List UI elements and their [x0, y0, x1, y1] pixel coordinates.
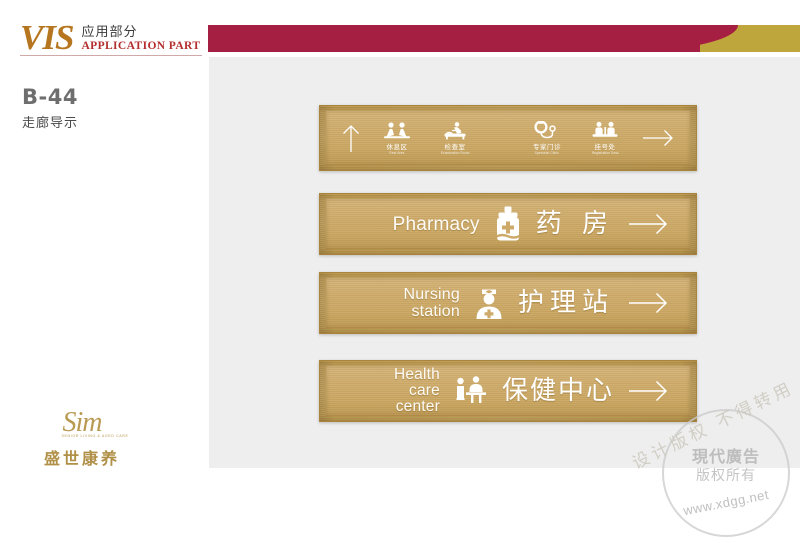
arrow-right-icon	[628, 380, 668, 402]
sign-board-nursing-station: Nursing station 护理站	[319, 272, 697, 334]
directory-label-en: Specialist Clinic	[535, 151, 559, 156]
sign-board-face: Pharmacy 药 房	[326, 199, 690, 249]
directory-label-cn: 休息区	[387, 143, 408, 151]
consultation-desk-icon	[454, 374, 488, 408]
sign-board-pharmacy: Pharmacy 药 房	[319, 193, 697, 255]
health-center-label-en-line1: Health	[362, 367, 440, 383]
directory-label-cn: 检查室	[445, 143, 466, 151]
sign-board-face: 休息区 Rest Area 检查室	[326, 111, 690, 165]
header-color-bar	[208, 25, 800, 52]
directory-item-rest-area: 休息区 Rest Area	[376, 121, 418, 156]
nursing-label-en: Nursing station	[403, 286, 460, 320]
pharmacy-label-en: Pharmacy	[393, 215, 480, 234]
examination-icon	[441, 121, 469, 141]
brand-tagline: SENIOR LIVING & AGED CARE	[48, 434, 142, 439]
brand-name-cn: 盛世康养	[22, 445, 142, 469]
page-title: 走廊导示	[22, 112, 78, 131]
sign-board-face: Nursing station 护理站	[326, 278, 690, 328]
page-root: VIS 应用部分 APPLICATION PART B-44 走廊导示	[0, 0, 800, 543]
sign-board-directory: 休息区 Rest Area 检查室	[319, 105, 697, 171]
directory-label-en: Examination Room	[441, 151, 470, 156]
sign-board-health-care-center: Health care center 保健中心	[319, 360, 697, 422]
reception-desk-icon	[591, 121, 619, 141]
arrow-right-icon	[628, 292, 668, 314]
nursing-label-en-line1: Nursing	[403, 286, 460, 303]
arrow-right-icon	[642, 128, 674, 148]
vis-logo-block: VIS 应用部分 APPLICATION PART	[20, 22, 210, 56]
nursing-label-cn: 护理站	[518, 289, 614, 317]
nursing-label-en-line2: station	[403, 303, 460, 320]
arrow-right-icon	[628, 213, 668, 235]
vis-wordmark: VIS	[20, 22, 73, 54]
directory-item-registration: 挂号处 Registration Desk	[584, 121, 626, 156]
health-center-label-cn: 保健中心	[502, 377, 614, 405]
pharmacy-label-cn: 药 房	[536, 210, 614, 238]
medicine-bottle-icon	[494, 206, 522, 242]
watermark-url: www.xdgg.net	[662, 483, 791, 522]
header-title-cn: 应用部分	[81, 25, 200, 40]
directory-item-exam-room: 检查室 Examination Room	[434, 121, 476, 156]
stethoscope-icon	[532, 121, 562, 141]
directory-item-specialist-clinic: 专家门诊 Specialist Clinic	[526, 121, 568, 156]
directory-label-cn: 挂号处	[595, 143, 616, 151]
page-code: B-44	[22, 85, 78, 109]
directory-label-en: Rest Area	[389, 151, 404, 156]
header-title-en: APPLICATION PART	[81, 40, 200, 53]
directory-label-en: Registration Desk	[591, 151, 618, 156]
health-center-label-en-line2: care center	[362, 383, 440, 415]
health-center-label-en: Health care center	[362, 367, 440, 415]
sign-board-face: Health care center 保健中心	[326, 366, 690, 416]
directory-label-cn: 专家门诊	[533, 143, 561, 151]
watermark-sub-text: 版权所有	[662, 465, 790, 485]
nurse-icon	[474, 285, 504, 321]
lounge-chairs-icon	[383, 121, 411, 141]
arrow-up-icon	[342, 123, 360, 153]
brand-logo: Sim SENIOR LIVING & AGED CARE 盛世康养	[22, 408, 142, 469]
